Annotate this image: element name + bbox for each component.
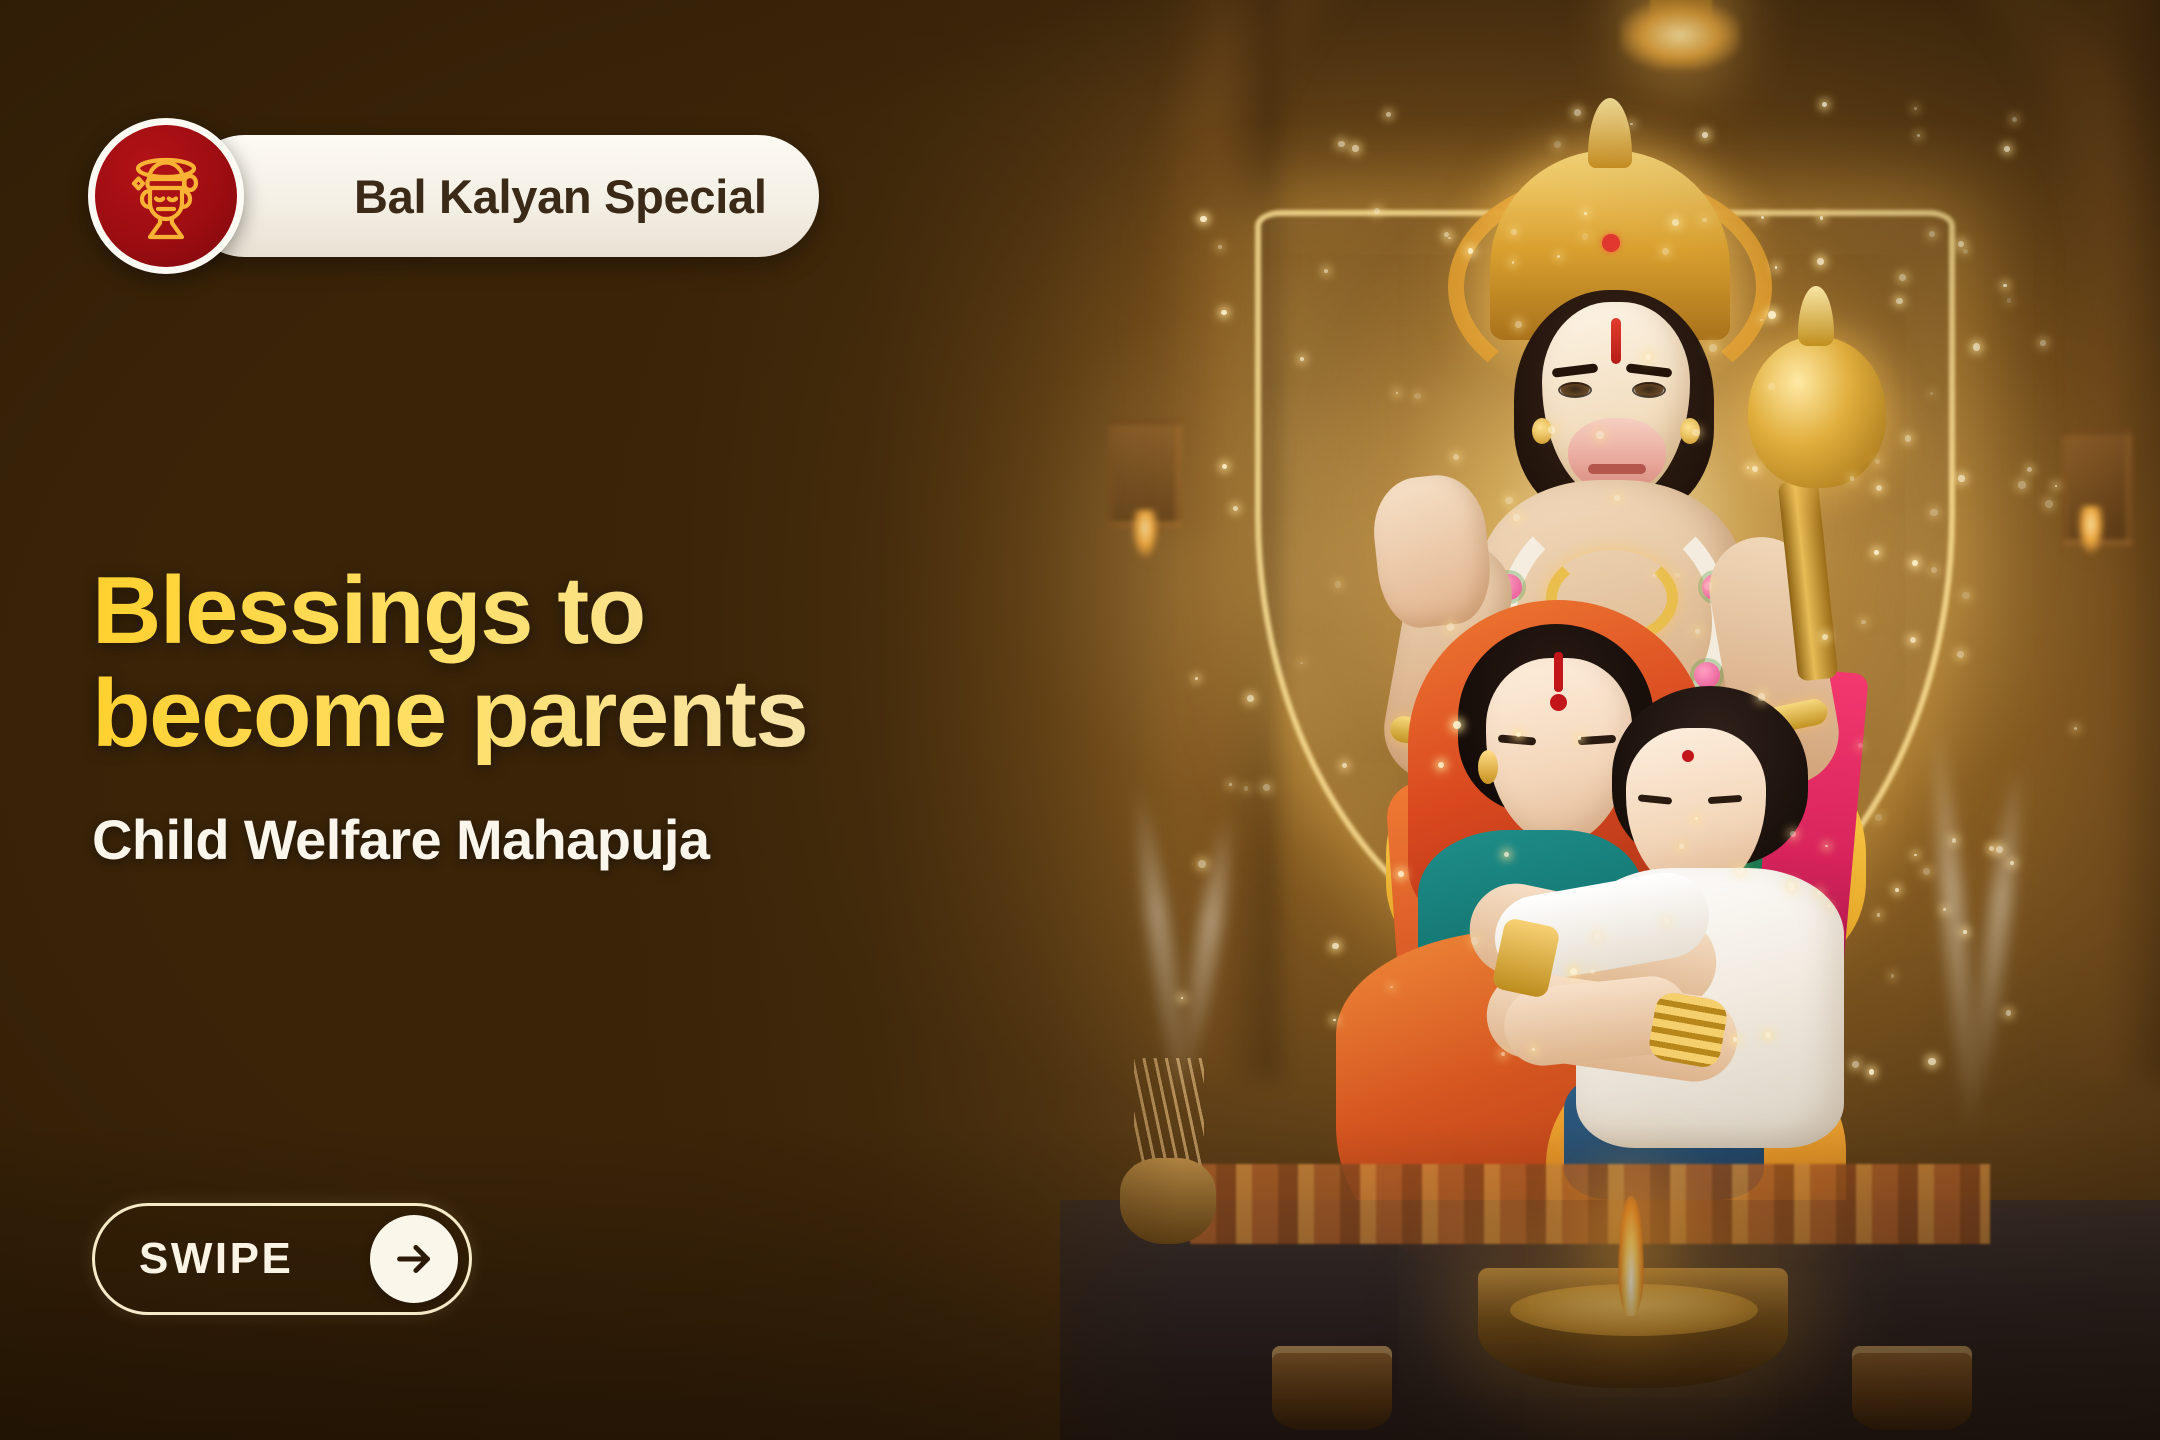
headline-block: Blessings to become parents Child Welfar…: [92, 560, 1052, 872]
page-title: Blessings to become parents: [92, 560, 1052, 765]
divine-child-halo-icon: [116, 146, 216, 246]
swipe-button[interactable]: SWIPE: [92, 1203, 472, 1315]
promo-banner: Bal Kalyan Special: [0, 0, 2160, 1440]
badge-icon-circle: [88, 118, 244, 274]
badge-pill[interactable]: Bal Kalyan Special: [184, 135, 819, 257]
swipe-arrow-circle[interactable]: [370, 1215, 458, 1303]
headline-line-2: become parents: [92, 663, 1052, 766]
subtitle: Child Welfare Mahapuja: [92, 807, 1052, 872]
headline-line-1: Blessings to: [92, 560, 1052, 663]
swipe-label: SWIPE: [139, 1234, 293, 1284]
badge-label: Bal Kalyan Special: [354, 169, 767, 224]
arrow-right-icon: [391, 1236, 437, 1282]
